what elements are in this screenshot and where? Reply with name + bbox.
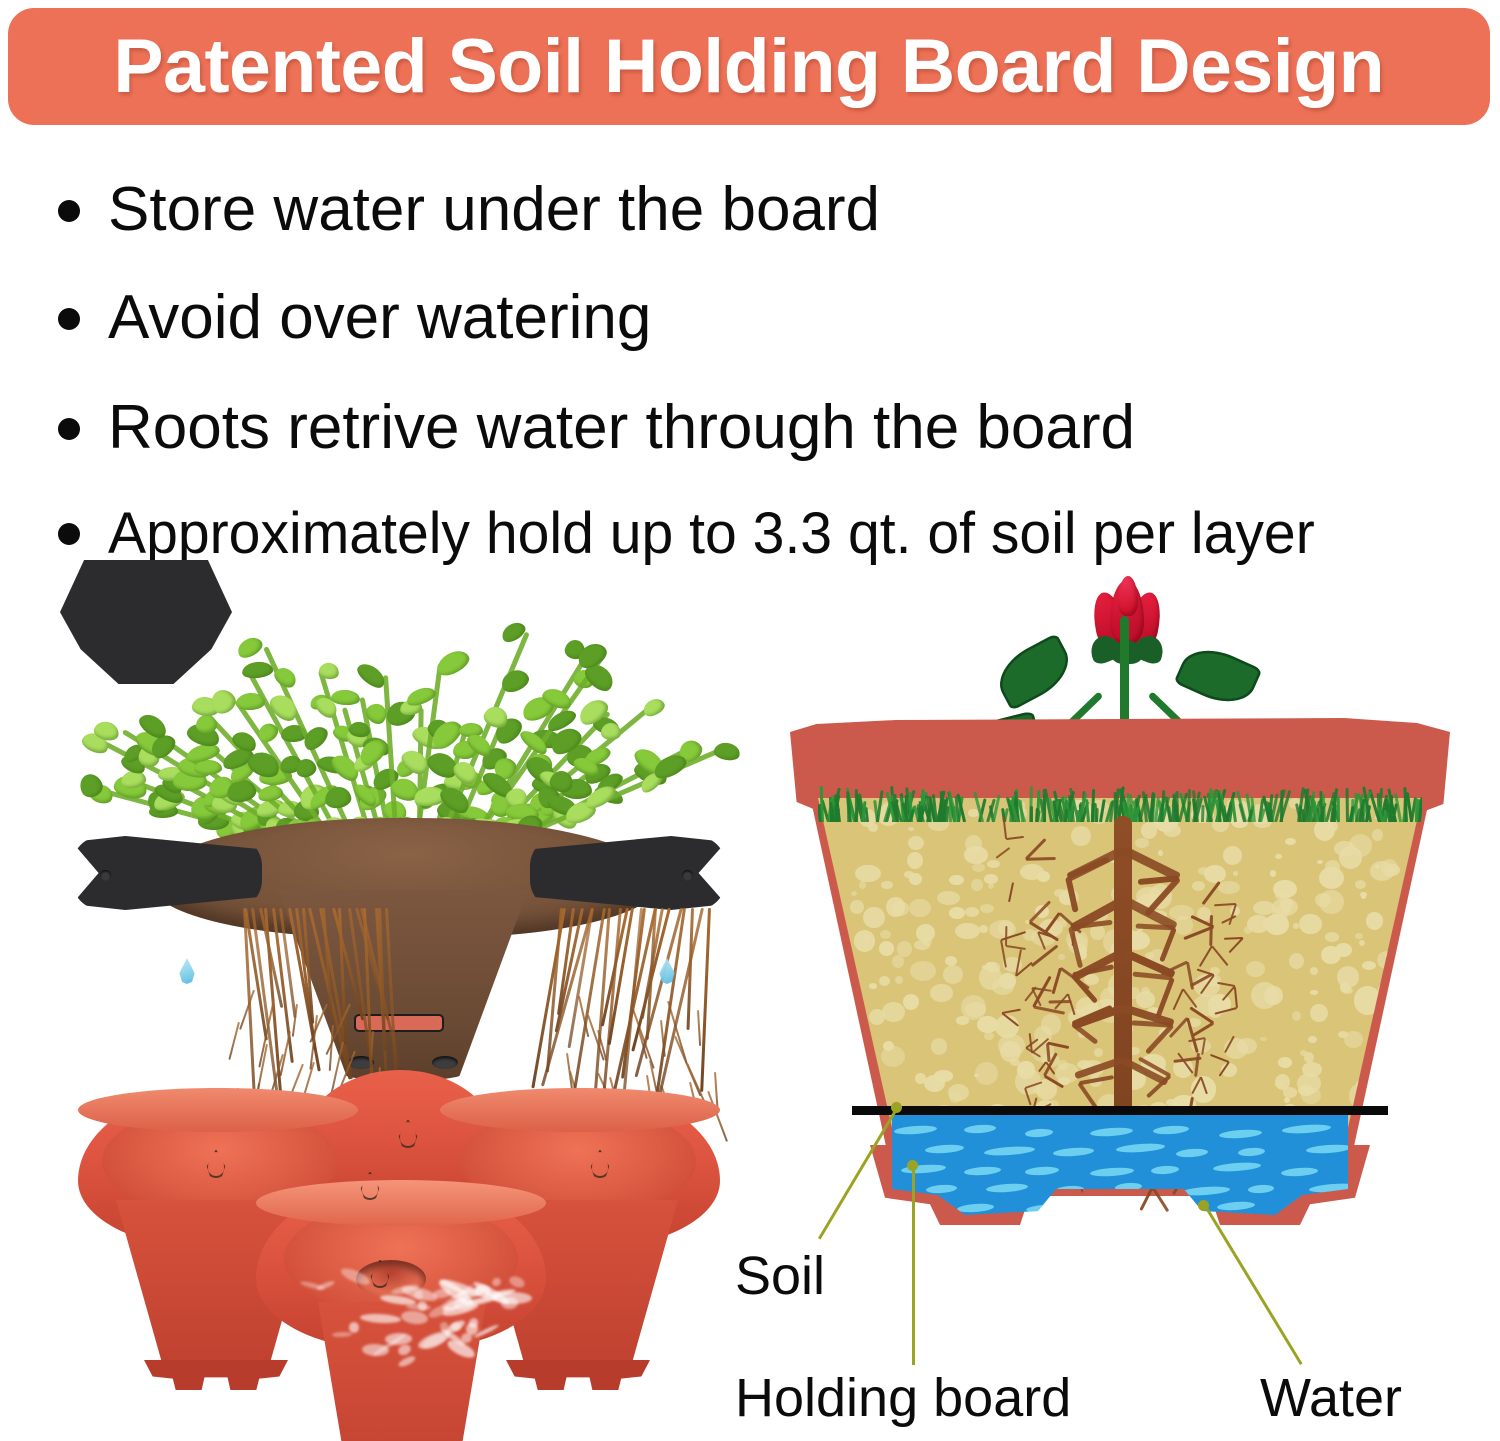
leader-line-water (1203, 1203, 1303, 1365)
bullet-dot-icon (58, 523, 80, 545)
leader-line-soil-anchor-dot (891, 1102, 902, 1113)
figures-area (0, 560, 1500, 1441)
bullet-dot-icon (58, 200, 80, 222)
bullet-item-store-water: Store water under the board (58, 174, 880, 245)
header-banner: Patented Soil Holding Board Design (8, 8, 1490, 125)
bullet-dot-icon (58, 418, 80, 440)
callout-leader-lines (0, 560, 1500, 1441)
bullet-label: Roots retrive water through the board (108, 392, 1135, 463)
leader-line-soil (818, 1107, 899, 1240)
leader-line-holding-board (912, 1165, 915, 1365)
bullet-label: Avoid over watering (108, 282, 651, 353)
bullet-dot-icon (58, 308, 80, 330)
leader-line-holding-board-anchor-dot (907, 1160, 918, 1171)
leader-line-water-anchor-dot (1198, 1200, 1209, 1211)
callout-label-soil: Soil (735, 1245, 825, 1307)
product-infographic-page: Patented Soil Holding Board Design Store… (0, 0, 1500, 1441)
bullet-item-soil-capacity: Approximately hold up to 3.3 qt. of soil… (58, 500, 1333, 567)
callout-label-holding-board: Holding board (735, 1367, 1071, 1429)
bullet-label: Store water under the board (108, 174, 880, 245)
bullet-item-roots-retrieve-water: Roots retrive water through the board (58, 392, 1135, 463)
bullet-label: Approximately hold up to 3.3 qt. of soil… (108, 500, 1315, 567)
bullet-item-avoid-over-watering: Avoid over watering (58, 282, 651, 353)
page-title: Patented Soil Holding Board Design (114, 29, 1385, 105)
callout-label-water: Water (1260, 1367, 1402, 1429)
